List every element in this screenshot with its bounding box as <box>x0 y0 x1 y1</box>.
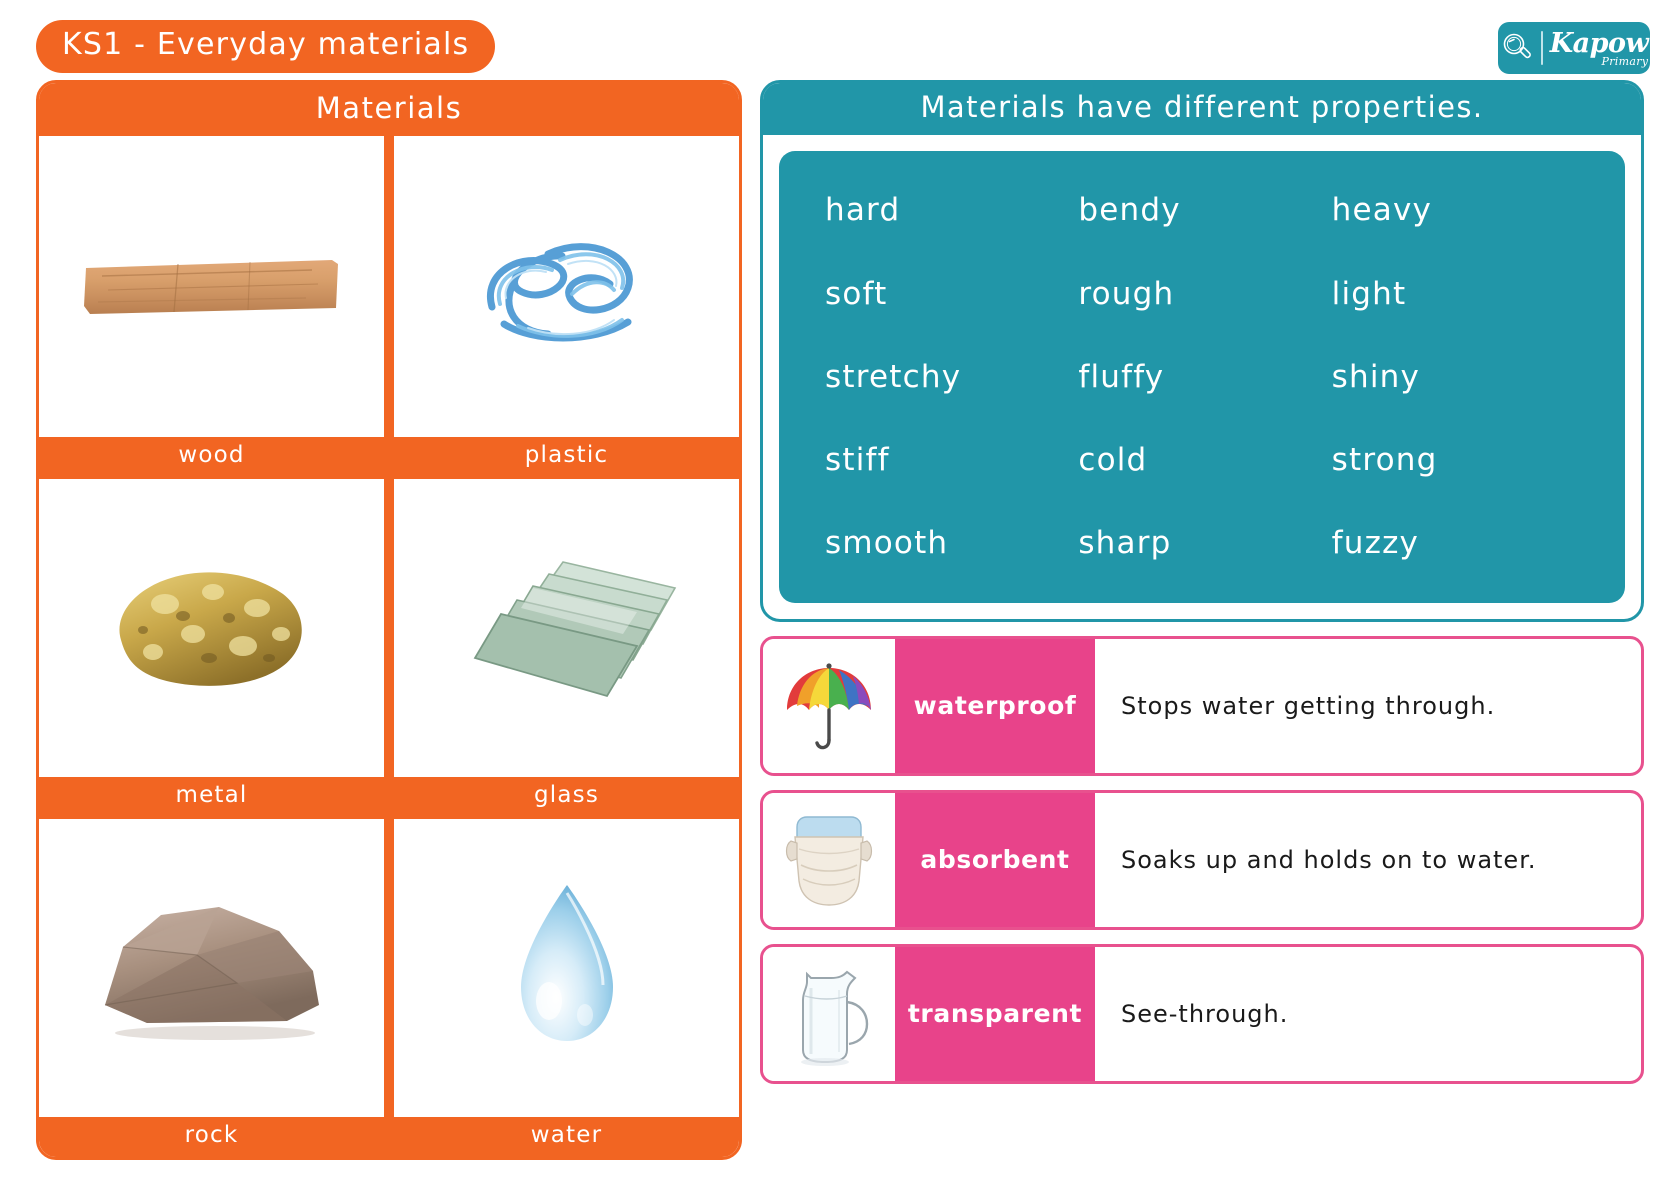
material-label-water: water <box>394 1117 739 1157</box>
wood-plank-image <box>39 136 384 436</box>
material-label-glass: glass <box>394 777 739 817</box>
page-title: KS1 - Everyday materials <box>36 20 495 73</box>
blue-plastic-image <box>394 136 739 436</box>
material-cell-water: water <box>394 817 739 1157</box>
page-header: KS1 - Everyday materials Kapow Primary <box>36 20 1650 76</box>
property-word: light <box>1332 279 1585 310</box>
property-word: hard <box>825 195 1078 226</box>
property-word: sharp <box>1078 528 1331 559</box>
definition-desc-transparent: See-through. <box>1095 947 1641 1081</box>
property-word: fuzzy <box>1332 528 1585 559</box>
property-word: cold <box>1078 445 1331 476</box>
right-column: Materials have different properties. har… <box>760 80 1644 1160</box>
property-word: stretchy <box>825 362 1078 393</box>
property-word: smooth <box>825 528 1078 559</box>
rainbow-umbrella-icon <box>763 639 895 773</box>
glass-jug-icon <box>763 947 895 1081</box>
grid-column-divider <box>384 136 394 476</box>
materials-heading: Materials <box>39 83 739 136</box>
material-cell-rock: rock <box>39 817 384 1157</box>
definition-desc-absorbent: Soaks up and holds on to water. <box>1095 793 1641 927</box>
definition-term-absorbent: absorbent <box>895 793 1095 927</box>
property-word: soft <box>825 279 1078 310</box>
material-label-wood: wood <box>39 437 384 477</box>
grid-column-divider <box>384 477 394 817</box>
poster-page: KS1 - Everyday materials Kapow Primary M… <box>0 0 1680 1189</box>
property-word: strong <box>1332 445 1585 476</box>
properties-inner: hard bendy heavy soft rough light stretc… <box>763 135 1641 619</box>
definition-desc-waterproof: Stops water getting through. <box>1095 639 1641 773</box>
definition-row-transparent: transparent See-through. <box>760 944 1644 1084</box>
definition-row-waterproof: waterproof Stops water getting through. <box>760 636 1644 776</box>
logo-divider <box>1541 31 1543 65</box>
properties-card: Materials have different properties. har… <box>760 80 1644 622</box>
materials-grid: wood <box>39 136 739 1157</box>
definition-term-waterproof: waterproof <box>895 639 1095 773</box>
water-droplet-image <box>394 819 739 1117</box>
gold-metal-nugget-image <box>39 479 384 777</box>
logo-name: Kapow <box>1550 30 1649 57</box>
material-cell-glass: glass <box>394 477 739 817</box>
property-word: bendy <box>1078 195 1331 226</box>
material-label-plastic: plastic <box>394 437 739 477</box>
rock-image <box>39 819 384 1117</box>
nappy-icon <box>763 793 895 927</box>
property-word: rough <box>1078 279 1331 310</box>
glass-sheets-image <box>394 479 739 777</box>
property-word: heavy <box>1332 195 1585 226</box>
material-cell-wood: wood <box>39 136 384 476</box>
logo-tagline: Primary <box>1602 56 1649 67</box>
property-word: fluffy <box>1078 362 1331 393</box>
material-label-metal: metal <box>39 777 384 817</box>
logo-wordmark: Kapow Primary <box>1550 30 1649 67</box>
definition-term-transparent: transparent <box>895 947 1095 1081</box>
material-label-rock: rock <box>39 1117 384 1157</box>
material-cell-metal: metal <box>39 477 384 817</box>
properties-heading: Materials have different properties. <box>763 83 1641 135</box>
property-words-grid: hard bendy heavy soft rough light stretc… <box>779 151 1625 603</box>
kapow-primary-logo: Kapow Primary <box>1498 22 1650 74</box>
material-cell-plastic: plastic <box>394 136 739 476</box>
magnifying-glass-icon <box>1500 31 1534 65</box>
property-word: shiny <box>1332 362 1585 393</box>
grid-column-divider <box>384 817 394 1157</box>
definition-row-absorbent: absorbent Soaks up and holds on to water… <box>760 790 1644 930</box>
materials-card: Materials <box>36 80 742 1160</box>
property-word: stiff <box>825 445 1078 476</box>
